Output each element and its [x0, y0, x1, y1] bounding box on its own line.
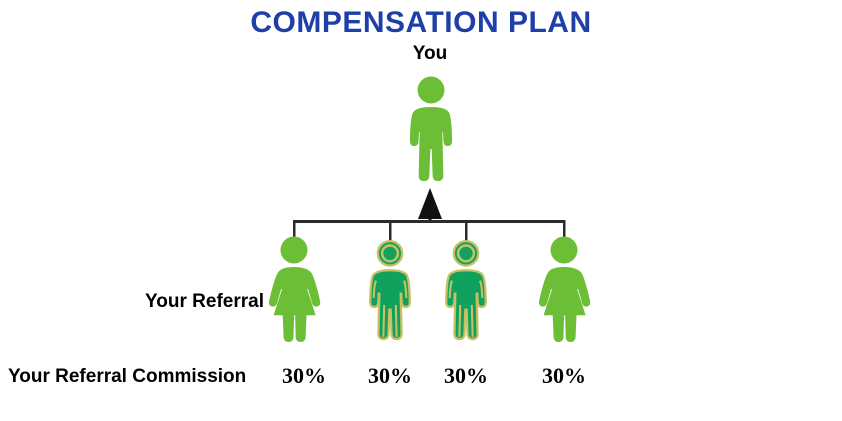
arrow-stem — [429, 216, 432, 223]
commission-value-1: 30% — [269, 363, 339, 389]
person-figure-referral-1 — [259, 236, 329, 344]
row-label-your-referral: Your Referral — [0, 291, 264, 313]
commission-value-4: 30% — [529, 363, 599, 389]
up-arrow-icon — [418, 188, 442, 219]
root-node-label: You — [380, 43, 480, 65]
commission-value-2: 30% — [355, 363, 425, 389]
person-female-icon — [259, 236, 329, 344]
page-title: COMPENSATION PLAN — [0, 6, 842, 40]
bracket-horizontal — [294, 220, 565, 223]
person-figure-referral-4 — [529, 236, 599, 344]
compensation-plan-diagram: COMPENSATION PLAN You — [0, 0, 842, 421]
person-figure-you — [398, 76, 464, 181]
commission-value-3: 30% — [431, 363, 501, 389]
person-figure-referral-2 — [359, 236, 421, 344]
person-male-icon — [398, 76, 464, 181]
row-label-your-referral-commission: Your Referral Commission — [8, 366, 246, 388]
person-figure-referral-3 — [435, 236, 497, 344]
person-male-outlined-icon — [435, 236, 497, 344]
person-male-outlined-icon — [359, 236, 421, 344]
person-female-icon — [529, 236, 599, 344]
